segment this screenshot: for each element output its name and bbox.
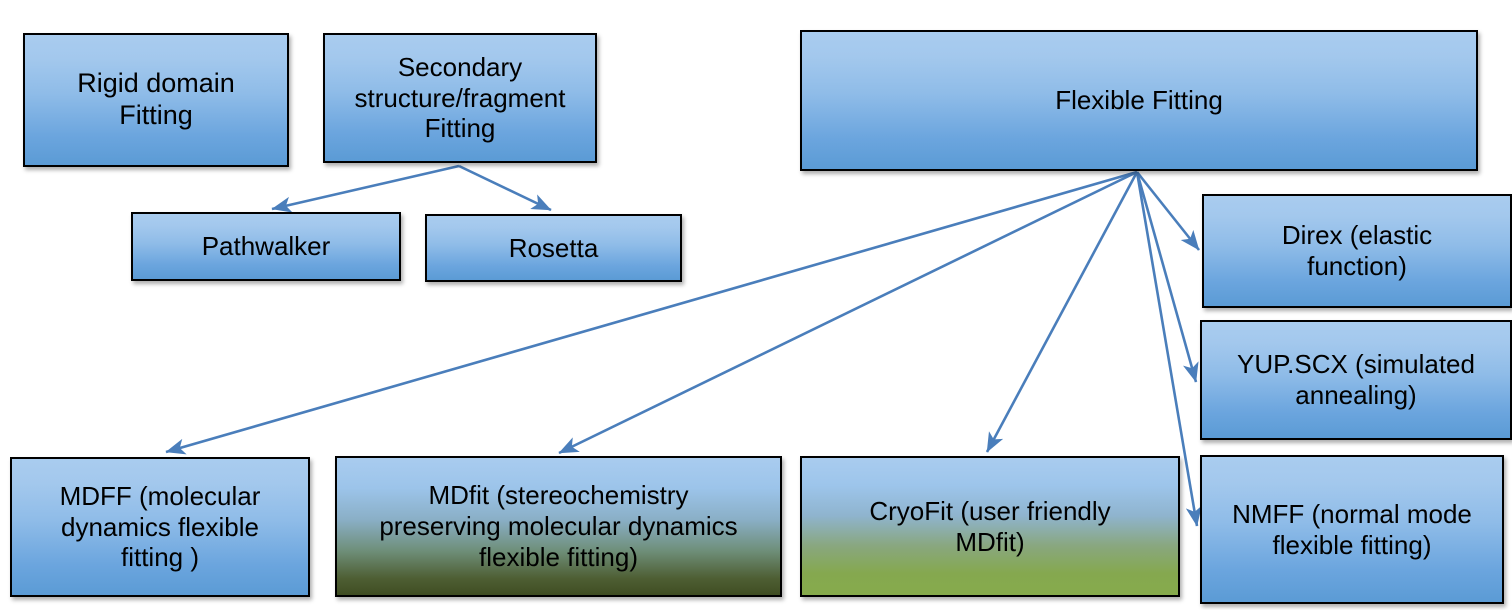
node-label: Rosetta <box>435 233 672 264</box>
node-label: MDFF (molecular dynamics flexible fittin… <box>20 481 300 573</box>
diagram-canvas: Rigid domain Fitting Secondary structure… <box>0 0 1512 610</box>
node-label: MDfit (stereochemistry preserving molecu… <box>345 480 772 572</box>
node-nmff[interactable]: NMFF (normal mode flexible fitting) <box>1200 455 1504 604</box>
node-label: YUP.SCX (simulated annealing) <box>1210 349 1502 410</box>
edge-flexible-to-yupscx <box>1137 172 1196 382</box>
node-secondary-structure-fragment-fitting[interactable]: Secondary structure/fragment Fitting <box>323 33 597 163</box>
edge-secondary-to-pathwalker <box>272 166 459 209</box>
edge-secondary-to-rosetta <box>459 166 551 210</box>
edge-flexible-to-cryofit <box>987 172 1137 452</box>
node-pathwalker[interactable]: Pathwalker <box>131 212 401 281</box>
node-label: Rigid domain Fitting <box>33 68 279 132</box>
node-yup-scx[interactable]: YUP.SCX (simulated annealing) <box>1200 320 1512 440</box>
node-direx[interactable]: Direx (elastic function) <box>1202 194 1512 308</box>
node-cryofit[interactable]: CryoFit (user friendly MDfit) <box>800 456 1180 597</box>
node-label: Pathwalker <box>141 231 391 262</box>
edge-flexible-to-direx <box>1137 172 1199 250</box>
node-label: Flexible Fitting <box>810 85 1468 116</box>
node-label: NMFF (normal mode flexible fitting) <box>1210 499 1494 560</box>
node-label: Direx (elastic function) <box>1212 220 1502 281</box>
node-label: Secondary structure/fragment Fitting <box>333 52 587 144</box>
node-label: CryoFit (user friendly MDfit) <box>810 496 1170 557</box>
node-mdff[interactable]: MDFF (molecular dynamics flexible fittin… <box>10 457 310 597</box>
node-rigid-domain-fitting[interactable]: Rigid domain Fitting <box>23 33 289 167</box>
node-flexible-fitting[interactable]: Flexible Fitting <box>800 30 1478 171</box>
node-rosetta[interactable]: Rosetta <box>425 214 682 282</box>
node-mdfit[interactable]: MDfit (stereochemistry preserving molecu… <box>335 456 782 597</box>
